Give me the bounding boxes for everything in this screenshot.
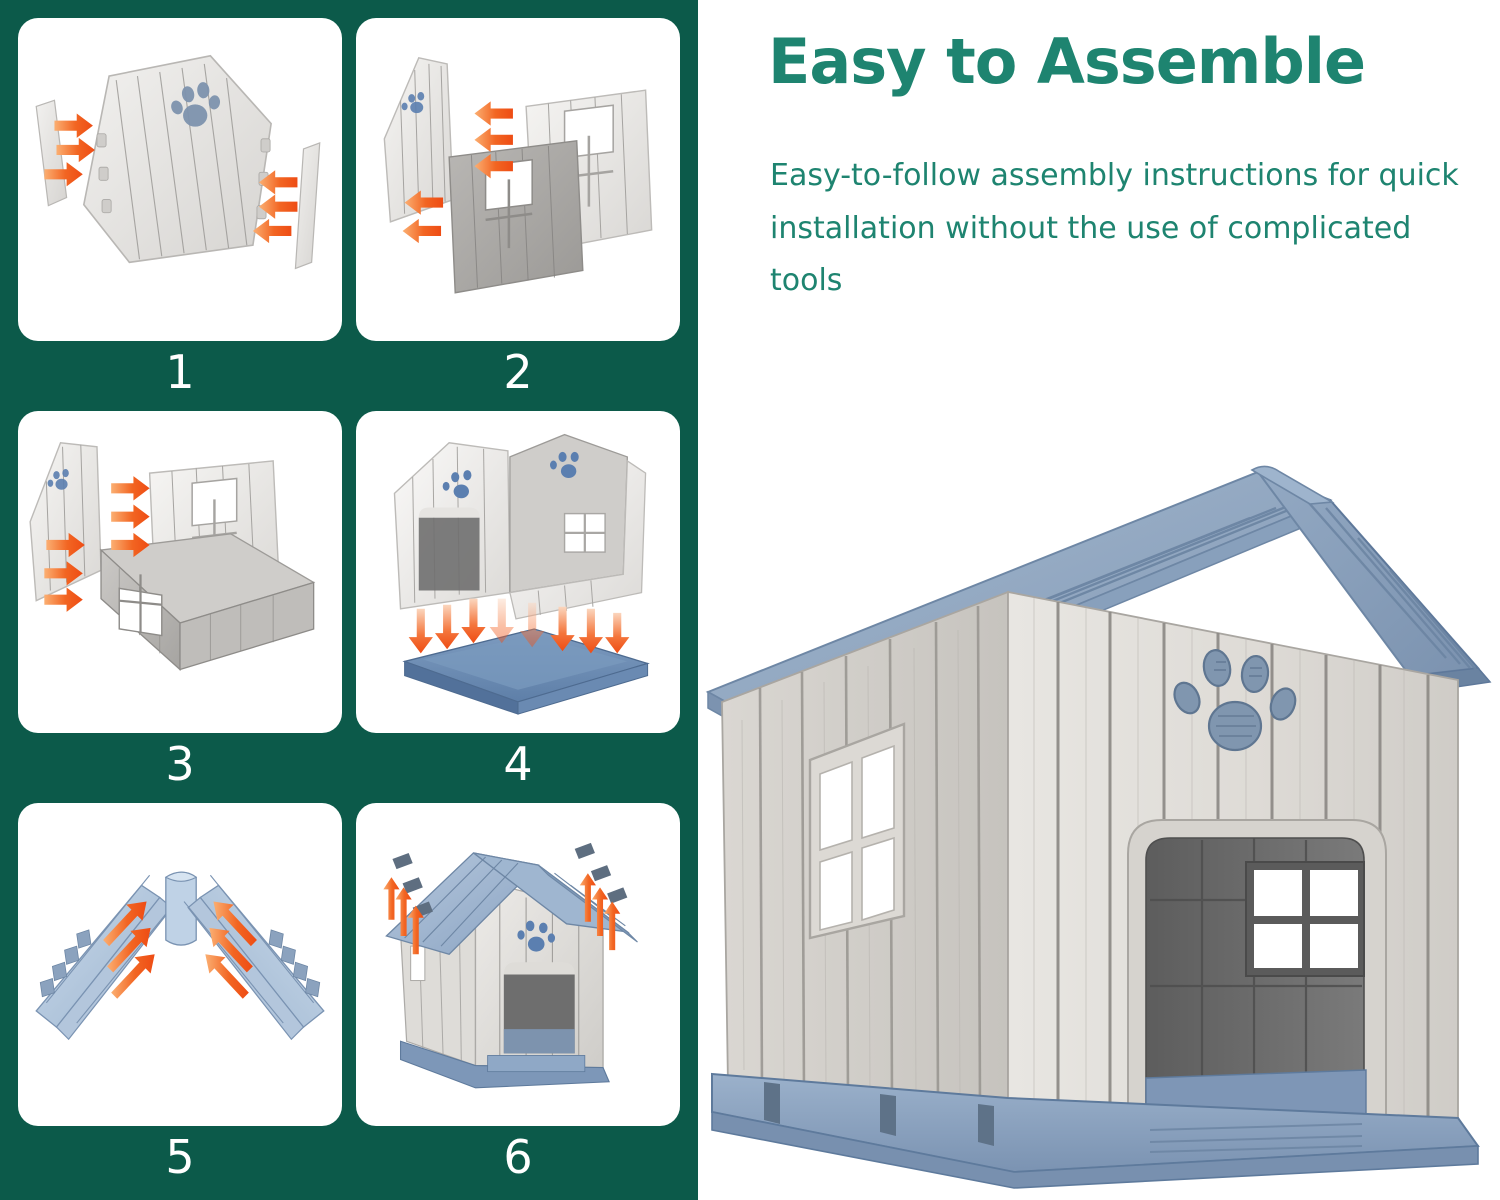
step-1-illustration — [18, 18, 342, 341]
product-hero-image — [698, 430, 1500, 1190]
assembly-step-1: 1 — [18, 18, 342, 403]
assembly-step-6: 6 — [356, 803, 680, 1188]
step-3-illustration — [18, 411, 342, 734]
front-wall — [1008, 592, 1458, 1130]
step-1-card[interactable] — [18, 18, 342, 341]
step-5-illustration — [18, 803, 342, 1126]
doorway — [1128, 820, 1386, 1130]
assembly-step-2: 2 — [356, 18, 680, 403]
right-trim-strip — [295, 143, 319, 269]
floor-tray-assembly — [101, 534, 314, 670]
step-3-card[interactable] — [18, 411, 342, 734]
step-6-illustration — [356, 803, 680, 1126]
rear-grey-wall — [449, 141, 583, 293]
window-4pane — [565, 513, 606, 551]
step-5-number: 5 — [18, 1126, 342, 1188]
assembly-step-3: 3 — [18, 411, 342, 796]
step-2-number: 2 — [356, 341, 680, 403]
left-roof-half — [36, 876, 176, 1040]
step-1-number: 1 — [18, 341, 342, 403]
right-roof-half — [184, 876, 324, 1040]
side-window-4pane — [810, 724, 904, 938]
assembly-steps-panel: 1 — [0, 0, 698, 1200]
step-5-card[interactable] — [18, 803, 342, 1126]
step-3-number: 3 — [18, 733, 342, 795]
step-6-card[interactable] — [356, 803, 680, 1126]
front-gable-with-door — [394, 442, 509, 608]
interior-window-4pane — [1246, 862, 1364, 976]
step-2-illustration — [356, 18, 680, 341]
assembly-steps-grid: 1 — [18, 18, 680, 1188]
assembly-step-5: 5 — [18, 803, 342, 1188]
step-4-number: 4 — [356, 733, 680, 795]
step-2-card[interactable] — [356, 18, 680, 341]
right-wall-and-rear-gable — [510, 434, 646, 618]
page-title: Easy to Assemble — [768, 28, 1468, 96]
front-gable-panel — [84, 56, 271, 263]
page-subtitle: Easy-to-follow assembly instructions for… — [770, 150, 1470, 308]
step-4-illustration — [356, 411, 680, 734]
step-4-card[interactable] — [356, 411, 680, 734]
marketing-content-panel: Easy to Assemble Easy-to-follow assembly… — [698, 0, 1500, 1200]
step-6-number: 6 — [356, 1126, 680, 1188]
assembly-step-4: 4 — [356, 411, 680, 796]
